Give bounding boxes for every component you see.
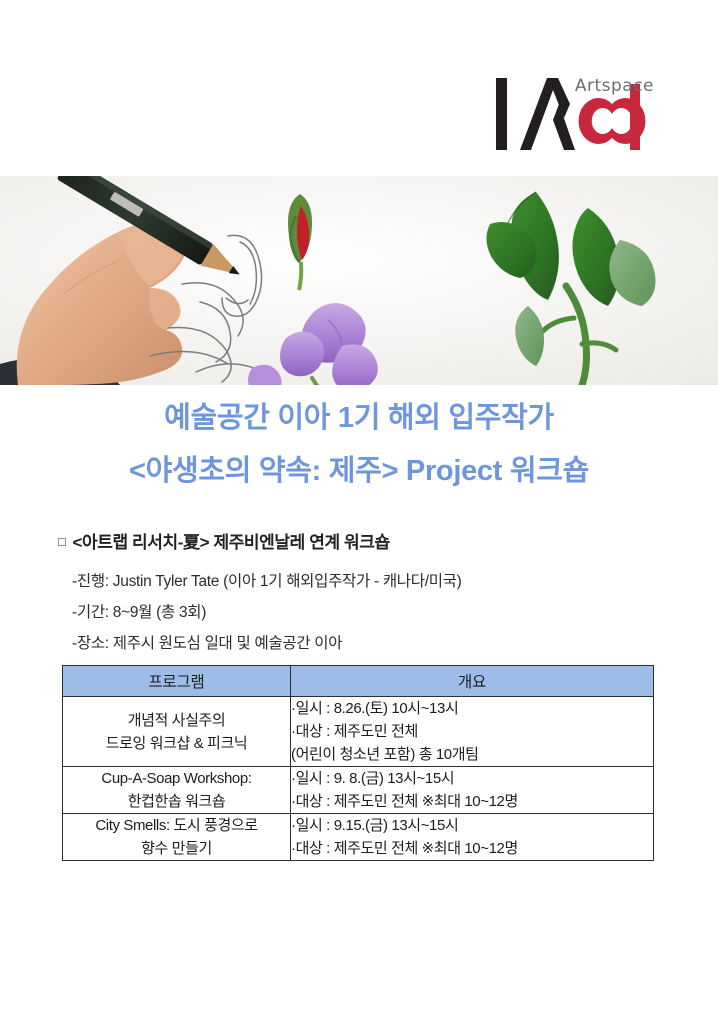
overview-line: ·대상 : 제주도민 전체 xyxy=(291,720,653,743)
overview-line: ·일시 : 8.26.(토) 10시~13시 xyxy=(291,697,653,720)
overview-cell: ·일시 : 8.26.(토) 10시~13시 ·대상 : 제주도민 전체 (어린… xyxy=(291,697,654,767)
program-line: City Smells: 도시 풍경으로 xyxy=(63,814,290,837)
detail-list: -진행: Justin Tyler Tate (이아 1기 해외입주작가 - 캐… xyxy=(72,566,672,659)
table-header-row: 프로그램 개요 xyxy=(63,666,654,697)
overview-cell: ·일시 : 9.15.(금) 13시~15시 ·대상 : 제주도민 전체 ※최대… xyxy=(291,814,654,861)
poster-title: 예술공간 이아 1기 해외 입주작가 <야생초의 약속: 제주> Project… xyxy=(0,392,718,498)
overview-line: ·일시 : 9. 8.(금) 13시~15시 xyxy=(291,767,653,790)
program-cell: City Smells: 도시 풍경으로 향수 만들기 xyxy=(63,814,291,861)
program-table: 프로그램 개요 개념적 사실주의 드로잉 워크샵 & 피크닉 ·일시 : 8.2… xyxy=(62,665,654,861)
section-heading: □<아트랩 리서치-夏> 제주비엔날레 연계 워크숍 xyxy=(58,528,390,553)
table-row: 개념적 사실주의 드로잉 워크샵 & 피크닉 ·일시 : 8.26.(토) 10… xyxy=(63,697,654,767)
detail-period: -기간: 8~9월 (총 3회) xyxy=(72,597,672,628)
program-line: 개념적 사실주의 xyxy=(63,709,290,732)
program-line: 향수 만들기 xyxy=(63,837,290,860)
workshop-photo xyxy=(0,176,718,385)
column-header-overview: 개요 xyxy=(291,666,654,697)
square-bullet-icon: □ xyxy=(58,534,65,549)
overview-line: ·일시 : 9.15.(금) 13시~15시 xyxy=(291,814,653,837)
table-row: City Smells: 도시 풍경으로 향수 만들기 ·일시 : 9.15.(… xyxy=(63,814,654,861)
program-cell: 개념적 사실주의 드로잉 워크샵 & 피크닉 xyxy=(63,697,291,767)
detail-location: -장소: 제주시 원도심 일대 및 예술공간 이아 xyxy=(72,628,672,659)
artspace-ia-logo: Artspace xyxy=(490,62,660,154)
overview-cell: ·일시 : 9. 8.(금) 13시~15시 ·대상 : 제주도민 전체 ※최대… xyxy=(291,767,654,814)
program-line: Cup-A-Soap Workshop: xyxy=(63,767,290,790)
column-header-program: 프로그램 xyxy=(63,666,291,697)
section-heading-text: <아트랩 리서치-夏> 제주비엔날레 연계 워크숍 xyxy=(72,533,389,552)
title-line-1: 예술공간 이아 1기 해외 입주작가 xyxy=(0,392,718,445)
program-line: 드로잉 워크샵 & 피크닉 xyxy=(63,732,290,755)
program-line: 한컵한솝 워크숍 xyxy=(63,790,290,813)
overview-line: ·대상 : 제주도민 전체 ※최대 10~12명 xyxy=(291,837,653,860)
program-cell: Cup-A-Soap Workshop: 한컵한솝 워크숍 xyxy=(63,767,291,814)
logo-wordmark: Artspace xyxy=(575,76,654,96)
title-line-2: <야생초의 약속: 제주> Project 워크숍 xyxy=(0,445,718,498)
table-row: Cup-A-Soap Workshop: 한컵한솝 워크숍 ·일시 : 9. 8… xyxy=(63,767,654,814)
detail-host: -진행: Justin Tyler Tate (이아 1기 해외입주작가 - 캐… xyxy=(72,566,672,597)
overview-line: ·대상 : 제주도민 전체 ※최대 10~12명 xyxy=(291,790,653,813)
overview-line: (어린이 청소년 포함) 총 10개팀 xyxy=(291,743,653,766)
